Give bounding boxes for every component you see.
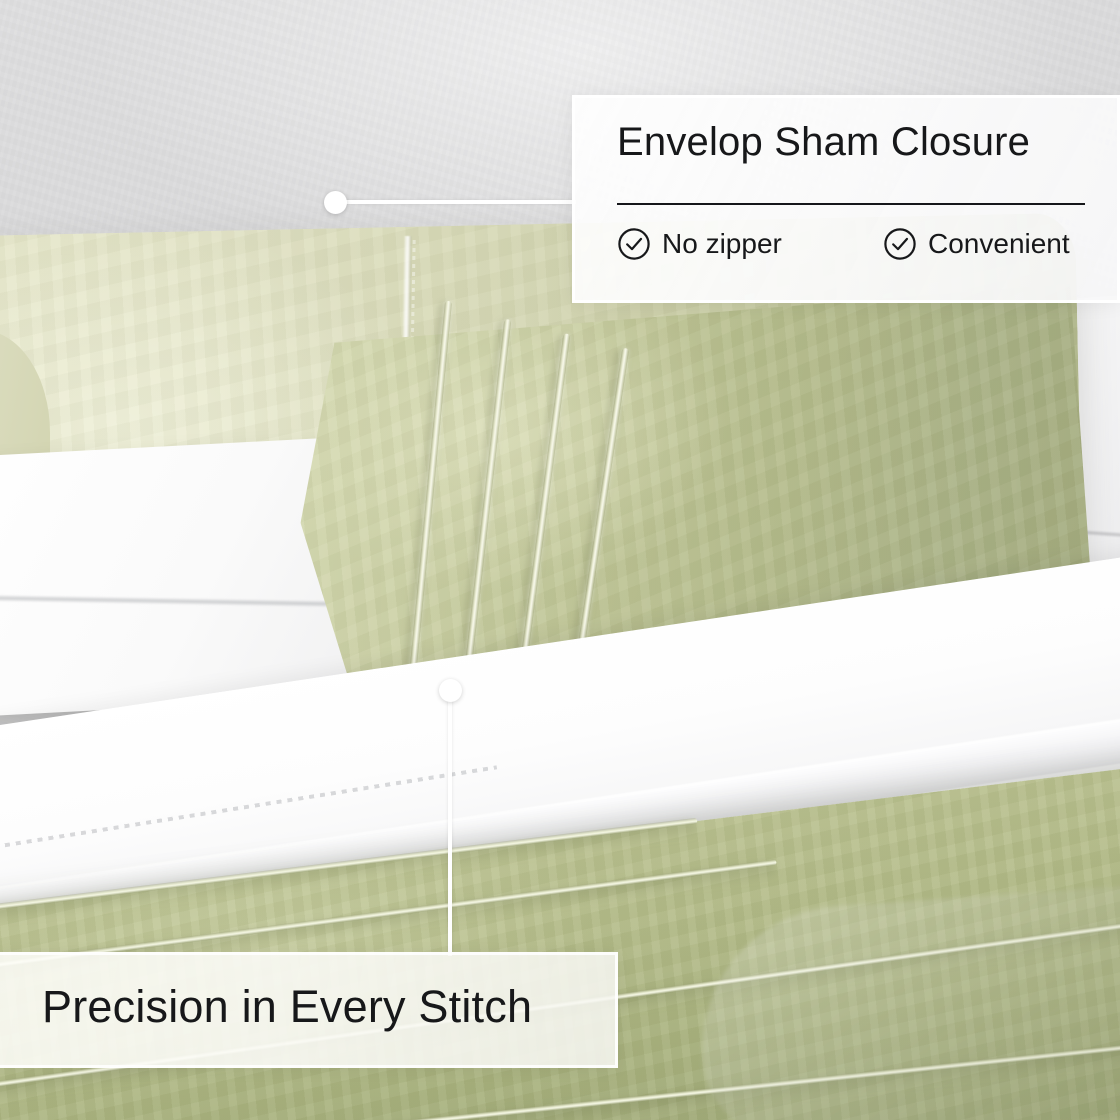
infographic-canvas: Envelop Sham Closure No zipper	[0, 0, 1120, 1120]
feature-list: No zipper Convenient	[617, 224, 1097, 280]
feature-item-no-zipper: No zipper	[617, 227, 782, 261]
callout-top-title: Envelop Sham Closure	[617, 120, 1030, 165]
feature-item-convenient: Convenient	[883, 227, 1070, 261]
feature-label: Convenient	[928, 228, 1070, 260]
callout-bottom-title: Precision in Every Stitch	[42, 981, 532, 1033]
callout-bottom-connector-line	[448, 698, 452, 956]
callout-envelope-sham-closure: Envelop Sham Closure No zipper	[572, 95, 1120, 303]
feature-label: No zipper	[662, 228, 782, 260]
callout-precision-in-every-stitch: Precision in Every Stitch	[0, 952, 618, 1068]
callout-top-connector-dot	[324, 191, 347, 214]
callout-bottom-connector-dot	[439, 679, 462, 702]
check-circle-icon	[883, 227, 917, 261]
callout-top-connector-line	[344, 200, 576, 204]
callout-divider	[617, 203, 1085, 205]
check-circle-icon	[617, 227, 651, 261]
